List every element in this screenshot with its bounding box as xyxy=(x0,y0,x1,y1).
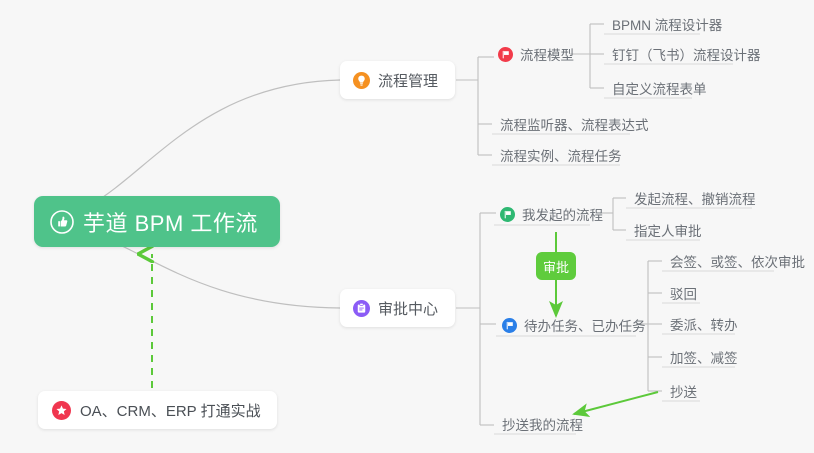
node-custom-process-form[interactable]: 自定义流程表单 xyxy=(604,76,715,100)
thumbs-up-icon xyxy=(50,210,74,234)
clipboard-icon xyxy=(353,300,370,317)
node-label-bpmn-designer: BPMN 流程设计器 xyxy=(612,19,722,33)
node-delegate-transfer[interactable]: 委派、转办 xyxy=(662,312,746,336)
node-label-dingtalk-feishu-designer: 钉钉（飞书）流程设计器 xyxy=(612,49,761,63)
star-badge-icon xyxy=(52,401,71,420)
annotation-tag-label: 审批 xyxy=(543,257,569,276)
node-carbon-copy[interactable]: 抄送 xyxy=(662,379,705,403)
node-my-initiated-process[interactable]: 我发起的流程 xyxy=(494,202,611,226)
node-label-start-cancel-process: 发起流程、撤销流程 xyxy=(634,193,756,207)
callout-node-integration[interactable]: OA、CRM、ERP 打通实战 xyxy=(38,391,277,429)
mindmap-canvas: 芋道 BPM 工作流 流程管理 流程模型 BPMN 流程设计器 钉钉（飞书 xyxy=(0,0,814,453)
flag-icon xyxy=(498,47,513,62)
node-process-listener-expression[interactable]: 流程监听器、流程表达式 xyxy=(492,112,657,136)
root-label: 芋道 BPM 工作流 xyxy=(83,206,258,238)
node-label-todo-done-tasks: 待办任务、已办任务 xyxy=(524,320,646,334)
node-label-carbon-copy: 抄送 xyxy=(670,386,697,400)
root-node[interactable]: 芋道 BPM 工作流 xyxy=(34,196,280,247)
node-label-process-listener-expression: 流程监听器、流程表达式 xyxy=(500,119,649,133)
node-todo-done-tasks[interactable]: 待办任务、已办任务 xyxy=(496,313,654,337)
node-add-remove-sign[interactable]: 加签、减签 xyxy=(662,345,746,369)
branch-node-approval-center[interactable]: 审批中心 xyxy=(340,289,455,327)
branch-node-process-management[interactable]: 流程管理 xyxy=(340,61,455,99)
node-start-cancel-process[interactable]: 发起流程、撤销流程 xyxy=(626,186,764,210)
node-label-delegate-transfer: 委派、转办 xyxy=(670,319,738,333)
node-label-reject: 驳回 xyxy=(670,288,697,302)
node-label-my-initiated-process: 我发起的流程 xyxy=(522,209,603,223)
node-label-custom-process-form: 自定义流程表单 xyxy=(612,83,707,97)
node-label-add-remove-sign: 加签、减签 xyxy=(670,352,738,366)
node-dingtalk-feishu-designer[interactable]: 钉钉（飞书）流程设计器 xyxy=(604,42,769,66)
node-assignee-approval[interactable]: 指定人审批 xyxy=(626,218,710,242)
lightbulb-icon xyxy=(353,72,370,89)
flag-icon xyxy=(500,207,515,222)
node-process-instance-task[interactable]: 流程实例、流程任务 xyxy=(492,143,630,167)
node-label-process-instance-task: 流程实例、流程任务 xyxy=(500,150,622,164)
arrow-cc-to-cc-my-process xyxy=(574,392,658,414)
node-label-process-model: 流程模型 xyxy=(520,49,574,63)
node-reject[interactable]: 驳回 xyxy=(662,281,705,305)
node-countersign-orsign-sequential[interactable]: 会签、或签、依次审批 xyxy=(662,249,813,273)
annotation-tag-approval[interactable]: 审批 xyxy=(536,252,576,280)
callout-label: OA、CRM、ERP 打通实战 xyxy=(80,400,261,421)
node-label-cc-to-me-process: 抄送我的流程 xyxy=(502,419,583,433)
node-cc-to-me-process[interactable]: 抄送我的流程 xyxy=(494,412,591,436)
flag-icon xyxy=(502,318,517,333)
branch-label-approval-center: 审批中心 xyxy=(378,298,438,319)
node-process-model[interactable]: 流程模型 xyxy=(492,42,582,66)
node-label-countersign-orsign-sequential: 会签、或签、依次审批 xyxy=(670,256,805,270)
branch-label-process-management: 流程管理 xyxy=(378,70,438,91)
node-bpmn-designer[interactable]: BPMN 流程设计器 xyxy=(604,12,730,36)
node-label-assignee-approval: 指定人审批 xyxy=(634,225,702,239)
